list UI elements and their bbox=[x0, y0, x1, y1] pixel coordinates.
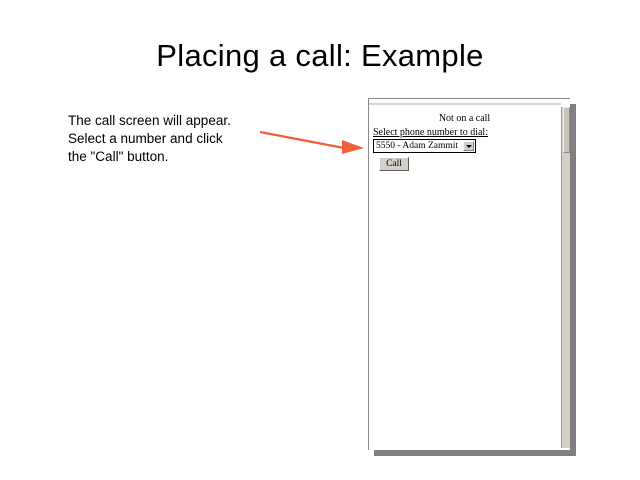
call-status-text: Not on a call bbox=[369, 113, 560, 124]
body-text-line-3: the "Call" button. bbox=[68, 148, 268, 166]
caret-shape bbox=[466, 145, 472, 148]
slide-body-text: The call screen will appear. Select a nu… bbox=[68, 112, 268, 166]
phone-number-select[interactable]: 5550 - Adam Zammit bbox=[373, 139, 476, 153]
call-screen-page-content: Not on a call Select phone number to dia… bbox=[369, 107, 560, 450]
annotation-arrow-icon bbox=[258, 124, 368, 158]
call-screen-window: Not on a call Select phone number to dia… bbox=[368, 98, 570, 450]
page-title: Placing a call: Example bbox=[0, 38, 640, 74]
toolbar-divider bbox=[369, 103, 561, 105]
body-text-line-2: Select a number and click bbox=[68, 130, 268, 148]
body-text-line-1: The call screen will appear. bbox=[68, 112, 268, 130]
scrollbar-thumb[interactable] bbox=[563, 107, 570, 153]
call-button[interactable]: Call bbox=[379, 157, 409, 171]
vertical-scrollbar[interactable] bbox=[561, 107, 570, 448]
chevron-down-icon[interactable] bbox=[463, 141, 474, 151]
select-phone-number-label: Select phone number to dial: bbox=[373, 127, 560, 138]
phone-number-select-value: 5550 - Adam Zammit bbox=[376, 140, 460, 152]
